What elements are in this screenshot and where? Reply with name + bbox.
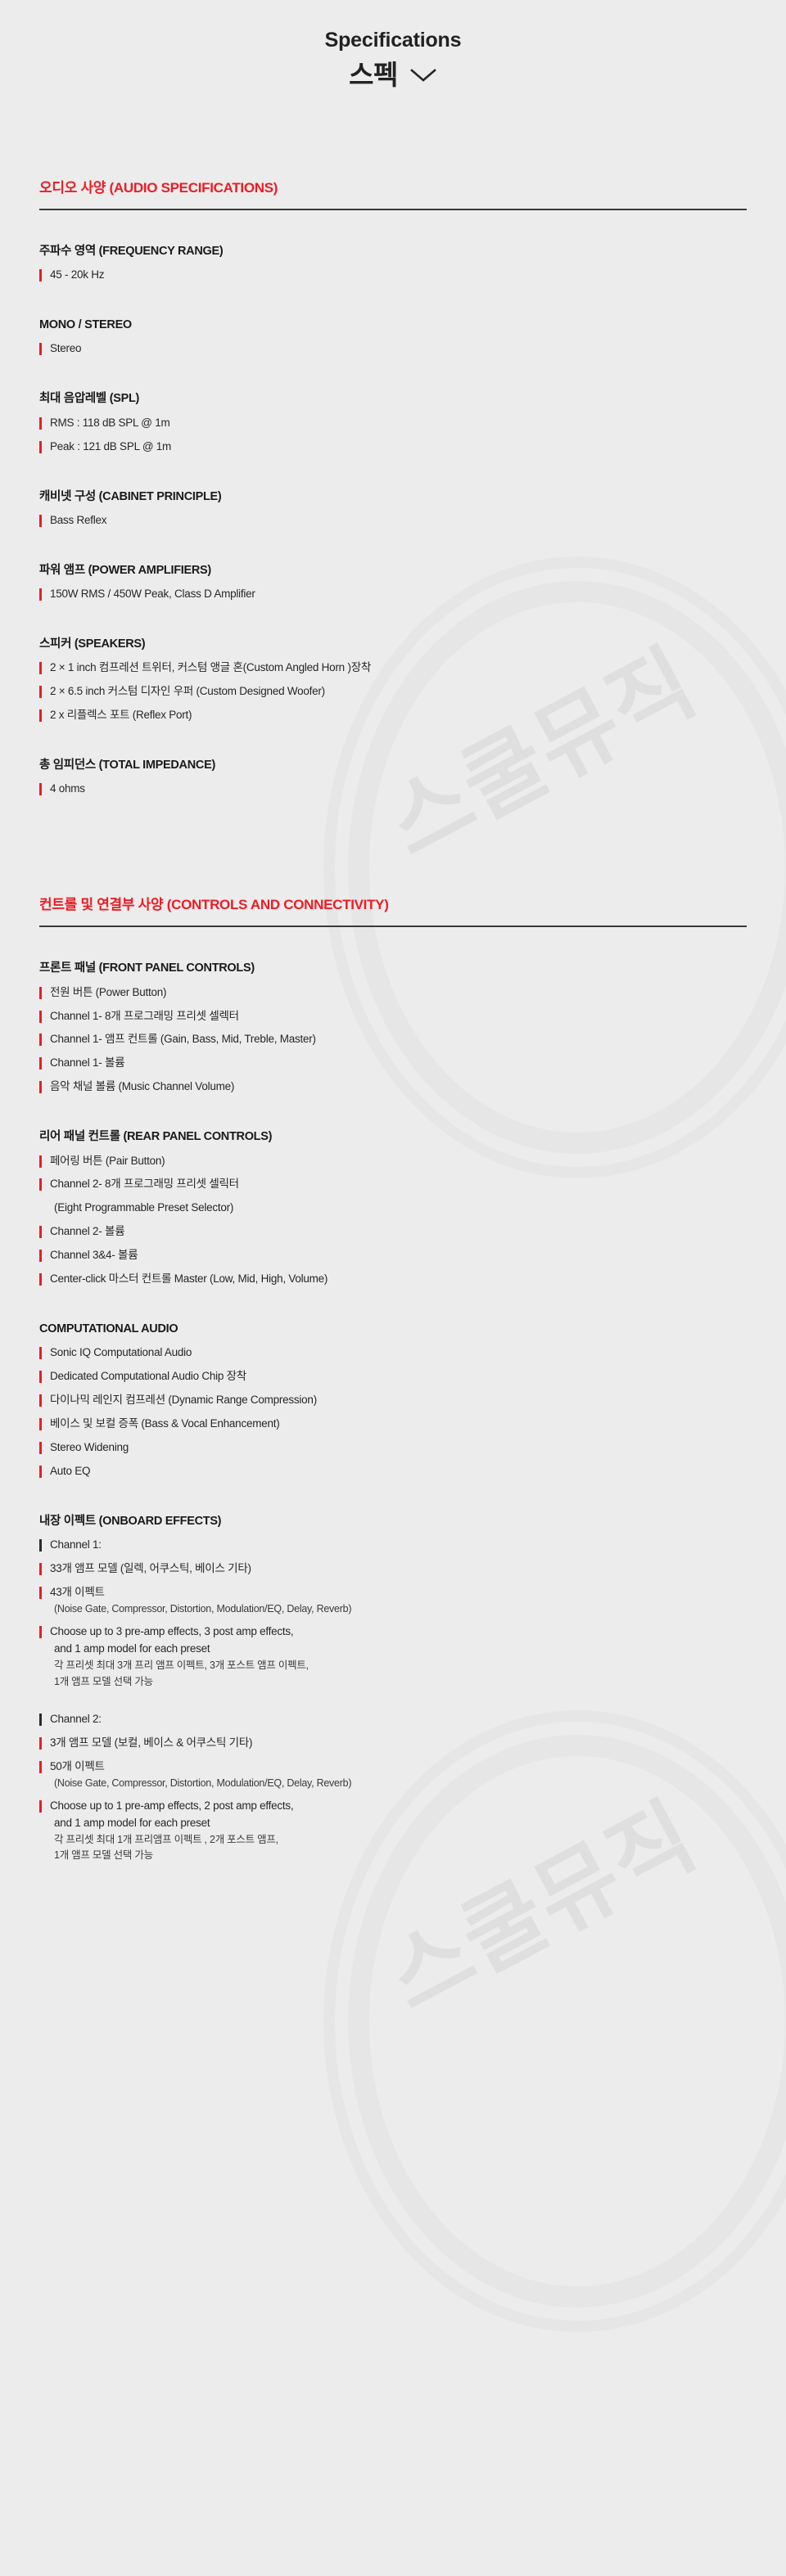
section-controls-and-connectivity: 컨트롤 및 연결부 사양 (CONTROLS AND CONNECTIVITY)… — [0, 896, 786, 1863]
spec-item-text: 43개 이펙트 — [50, 1586, 105, 1598]
spec-item: 4 ohms — [39, 781, 747, 798]
page-title-english: Specifications — [0, 28, 786, 53]
spec-item: 50개 이펙트(Noise Gate, Compressor, Distorti… — [39, 1759, 747, 1791]
spec-item-text: 2 × 1 inch 컴프레션 트위터, 커스텀 앵글 혼(Custom Ang… — [50, 661, 371, 673]
spec-item-text: Stereo — [50, 342, 81, 354]
spec-item-note: (Noise Gate, Compressor, Distortion, Mod… — [50, 1601, 747, 1617]
spec-group-label: 최대 음압레벨 (SPL) — [39, 390, 747, 407]
spec-item-note: (Noise Gate, Compressor, Distortion, Mod… — [50, 1776, 747, 1791]
section-divider — [39, 209, 747, 210]
spec-item: Channel 2- 8개 프로그래밍 프리셋 셀릭터 — [39, 1176, 747, 1193]
spec-item: Choose up to 3 pre-amp effects, 3 post a… — [39, 1624, 747, 1690]
spec-group: 총 임피던스 (TOTAL IMPEDANCE)4 ohms — [39, 757, 747, 798]
spec-item: Center-click 마스터 컨트롤 Master (Low, Mid, H… — [39, 1271, 747, 1288]
spec-item: Sonic IQ Computational Audio — [39, 1344, 747, 1362]
spec-item-text: (Eight Programmable Preset Selector) — [54, 1201, 233, 1214]
spec-item-text: 50개 이펙트 — [50, 1760, 105, 1772]
spec-item-text: Stereo Widening — [50, 1441, 129, 1453]
spec-group-label: 캐비넷 구성 (CABINET PRINCIPLE) — [39, 489, 747, 505]
spec-item-continuation: and 1 amp model for each preset — [50, 1815, 747, 1832]
spec-group-label: 스피커 (SPEAKERS) — [39, 636, 747, 652]
spec-item-text: Channel 2: — [50, 1713, 102, 1725]
spec-item: 150W RMS / 450W Peak, Class D Amplifier — [39, 586, 747, 603]
spec-item-text: Channel 2- 볼륨 — [50, 1225, 124, 1237]
spec-item-text: Auto EQ — [50, 1465, 90, 1477]
spec-item-text: Center-click 마스터 컨트롤 Master (Low, Mid, H… — [50, 1272, 327, 1285]
spec-item-text: Channel 1: — [50, 1538, 102, 1551]
spec-item: Channel 1- 8개 프로그래밍 프리셋 셀렉터 — [39, 1008, 747, 1025]
spec-item: Dedicated Computational Audio Chip 장착 — [39, 1368, 747, 1385]
spec-item: 페어링 버튼 (Pair Button) — [39, 1153, 747, 1170]
spec-item-text: 베이스 및 보컬 증폭 (Bass & Vocal Enhancement) — [50, 1417, 279, 1430]
spec-item-note: 각 프리셋 최대 3개 프리 앰프 이펙트, 3개 포스트 앰프 이펙트, — [50, 1658, 747, 1673]
spec-item-text: Channel 1- 볼륨 — [50, 1056, 124, 1069]
spec-item-text: Channel 2- 8개 프로그래밍 프리셋 셀릭터 — [50, 1178, 239, 1190]
spec-item: Channel 3&4- 볼륨 — [39, 1247, 747, 1264]
spec-item-list: 4 ohms — [39, 781, 747, 798]
spec-item-text: 전원 버튼 (Power Button) — [50, 986, 166, 998]
spec-item: 전원 버튼 (Power Button) — [39, 984, 747, 1002]
spec-item: Channel 2- 볼륨 — [39, 1223, 747, 1241]
spec-group: 리어 패널 컨트롤 (REAR PANEL CONTROLS)페어링 버튼 (P… — [39, 1128, 747, 1288]
spec-item-text: 45 - 20k Hz — [50, 268, 104, 281]
spec-group-label: 프론트 패널 (FRONT PANEL CONTROLS) — [39, 960, 747, 976]
spec-item-list: 45 - 20k Hz — [39, 267, 747, 284]
spec-group: 스피커 (SPEAKERS)2 × 1 inch 컴프레션 트위터, 커스텀 앵… — [39, 636, 747, 724]
spec-item-text: 페어링 버튼 (Pair Button) — [50, 1155, 165, 1167]
spec-item-text: 33개 앰프 모델 (일렉, 어쿠스틱, 베이스 기타) — [50, 1562, 251, 1574]
spec-item: 2 × 1 inch 컴프레션 트위터, 커스텀 앵글 혼(Custom Ang… — [39, 660, 747, 677]
spec-item: 2 x 리플렉스 포트 (Reflex Port) — [39, 707, 747, 724]
spec-group-label: 총 임피던스 (TOTAL IMPEDANCE) — [39, 757, 747, 773]
spec-group-label: 내장 이펙트 (ONBOARD EFFECTS) — [39, 1513, 747, 1529]
spec-item: 43개 이펙트(Noise Gate, Compressor, Distorti… — [39, 1584, 747, 1617]
spec-item: Channel 1- 볼륨 — [39, 1055, 747, 1072]
spec-group: COMPUTATIONAL AUDIOSonic IQ Computationa… — [39, 1321, 747, 1480]
spec-item-note: 1개 앰프 모델 선택 가능 — [50, 1848, 747, 1863]
spec-item: Channel 1- 앰프 컨트롤 (Gain, Bass, Mid, Treb… — [39, 1031, 747, 1048]
spec-item-text: Dedicated Computational Audio Chip 장착 — [50, 1370, 246, 1382]
spec-item: 2 × 6.5 inch 커스텀 디자인 우퍼 (Custom Designed… — [39, 683, 747, 700]
spec-item: Stereo Widening — [39, 1439, 747, 1457]
spec-item-list: Stereo — [39, 340, 747, 358]
spec-item-text: Channel 3&4- 볼륨 — [50, 1249, 138, 1261]
spec-group-label: COMPUTATIONAL AUDIO — [39, 1321, 747, 1337]
specifications-toggle[interactable]: 스펙 — [0, 59, 786, 92]
spec-group: 프론트 패널 (FRONT PANEL CONTROLS)전원 버튼 (Powe… — [39, 960, 747, 1096]
spec-item-list: RMS : 118 dB SPL @ 1mPeak : 121 dB SPL @… — [39, 415, 747, 456]
spec-item: Channel 2: — [39, 1711, 747, 1728]
spec-item-continuation: and 1 amp model for each preset — [50, 1641, 747, 1658]
spec-item-text: Channel 1- 8개 프로그래밍 프리셋 셀렉터 — [50, 1010, 239, 1022]
spec-item: Choose up to 1 pre-amp effects, 2 post a… — [39, 1798, 747, 1864]
spec-item-list: Sonic IQ Computational AudioDedicated Co… — [39, 1344, 747, 1480]
spec-item-text: Choose up to 3 pre-amp effects, 3 post a… — [50, 1625, 293, 1637]
spec-item-text: Channel 1- 앰프 컨트롤 (Gain, Bass, Mid, Treb… — [50, 1033, 316, 1045]
spec-item-text: 음악 채널 볼륨 (Music Channel Volume) — [50, 1080, 234, 1092]
spec-item-text: 4 ohms — [50, 782, 85, 795]
spec-group: 주파수 영역 (FREQUENCY RANGE)45 - 20k Hz — [39, 243, 747, 284]
spec-group-label: MONO / STEREO — [39, 317, 747, 333]
spec-item-text: 다이나믹 레인지 컴프레션 (Dynamic Range Compression… — [50, 1394, 317, 1406]
spec-group: 캐비넷 구성 (CABINET PRINCIPLE)Bass Reflex — [39, 489, 747, 529]
spec-item: Auto EQ — [39, 1463, 747, 1480]
spec-item: 33개 앰프 모델 (일렉, 어쿠스틱, 베이스 기타) — [39, 1560, 747, 1578]
section-title: 컨트롤 및 연결부 사양 (CONTROLS AND CONNECTIVITY) — [39, 896, 747, 914]
spec-item-text: 150W RMS / 450W Peak, Class D Amplifier — [50, 588, 255, 600]
spec-group: 최대 음압레벨 (SPL)RMS : 118 dB SPL @ 1mPeak :… — [39, 390, 747, 455]
spec-item-text: Peak : 121 dB SPL @ 1m — [50, 440, 171, 453]
spec-item-text: 2 x 리플렉스 포트 (Reflex Port) — [50, 709, 192, 721]
spec-item-note: 각 프리셋 최대 1개 프리앰프 이펙트 , 2개 포스트 앰프, — [50, 1832, 747, 1848]
spec-item: (Eight Programmable Preset Selector) — [39, 1200, 747, 1217]
spec-group: MONO / STEREOStereo — [39, 317, 747, 358]
section-title: 오디오 사양 (AUDIO SPECIFICATIONS) — [39, 179, 747, 197]
spec-item-list: 페어링 버튼 (Pair Button)Channel 2- 8개 프로그래밍 … — [39, 1153, 747, 1289]
section-audio-specifications: 오디오 사양 (AUDIO SPECIFICATIONS)주파수 영역 (FRE… — [0, 179, 786, 798]
spec-item-list: 150W RMS / 450W Peak, Class D Amplifier — [39, 586, 747, 603]
spec-item-text: Choose up to 1 pre-amp effects, 2 post a… — [50, 1799, 293, 1812]
spec-item: 베이스 및 보컬 증폭 (Bass & Vocal Enhancement) — [39, 1416, 747, 1433]
spec-item-text: Bass Reflex — [50, 514, 106, 526]
specifications-page: Specifications 스펙 오디오 사양 (AUDIO SPECIFIC… — [0, 0, 786, 1920]
spec-item: Channel 1: — [39, 1537, 747, 1554]
spec-group-label: 주파수 영역 (FREQUENCY RANGE) — [39, 243, 747, 259]
spec-group: 파워 앰프 (POWER AMPLIFIERS)150W RMS / 450W … — [39, 562, 747, 603]
spec-item-list: 전원 버튼 (Power Button)Channel 1- 8개 프로그래밍 … — [39, 984, 747, 1097]
spec-item: 음악 채널 볼륨 (Music Channel Volume) — [39, 1079, 747, 1096]
spec-item: Bass Reflex — [39, 512, 747, 529]
sections-container: 오디오 사양 (AUDIO SPECIFICATIONS)주파수 영역 (FRE… — [0, 179, 786, 1864]
spec-item-text: 2 × 6.5 inch 커스텀 디자인 우퍼 (Custom Designed… — [50, 685, 325, 697]
page-title-korean: 스펙 — [349, 59, 398, 92]
spec-item: 다이나믹 레인지 컴프레션 (Dynamic Range Compression… — [39, 1392, 747, 1409]
section-divider — [39, 925, 747, 927]
spec-item-text: RMS : 118 dB SPL @ 1m — [50, 417, 170, 429]
chevron-down-icon[interactable] — [409, 67, 437, 83]
spec-item-list: 2 × 1 inch 컴프레션 트위터, 커스텀 앵글 혼(Custom Ang… — [39, 660, 747, 724]
spec-item-list: Channel 1:33개 앰프 모델 (일렉, 어쿠스틱, 베이스 기타)43… — [39, 1537, 747, 1863]
spec-group-label: 파워 앰프 (POWER AMPLIFIERS) — [39, 562, 747, 579]
spec-item: 3개 앰프 모델 (보컬, 베이스 & 어쿠스틱 기타) — [39, 1735, 747, 1752]
spec-item-note: 1개 앰프 모델 선택 가능 — [50, 1674, 747, 1690]
spec-item: Stereo — [39, 340, 747, 358]
spec-item-text: 3개 앰프 모델 (보컬, 베이스 & 어쿠스틱 기타) — [50, 1736, 252, 1749]
spec-group: 내장 이펙트 (ONBOARD EFFECTS)Channel 1:33개 앰프… — [39, 1513, 747, 1864]
spec-item-text: Sonic IQ Computational Audio — [50, 1346, 192, 1358]
spec-item: 45 - 20k Hz — [39, 267, 747, 284]
spec-item-list: Bass Reflex — [39, 512, 747, 529]
spec-item: RMS : 118 dB SPL @ 1m — [39, 415, 747, 432]
spec-group-label: 리어 패널 컨트롤 (REAR PANEL CONTROLS) — [39, 1128, 747, 1145]
specifications-header: Specifications 스펙 — [0, 0, 786, 92]
spec-item: Peak : 121 dB SPL @ 1m — [39, 439, 747, 456]
